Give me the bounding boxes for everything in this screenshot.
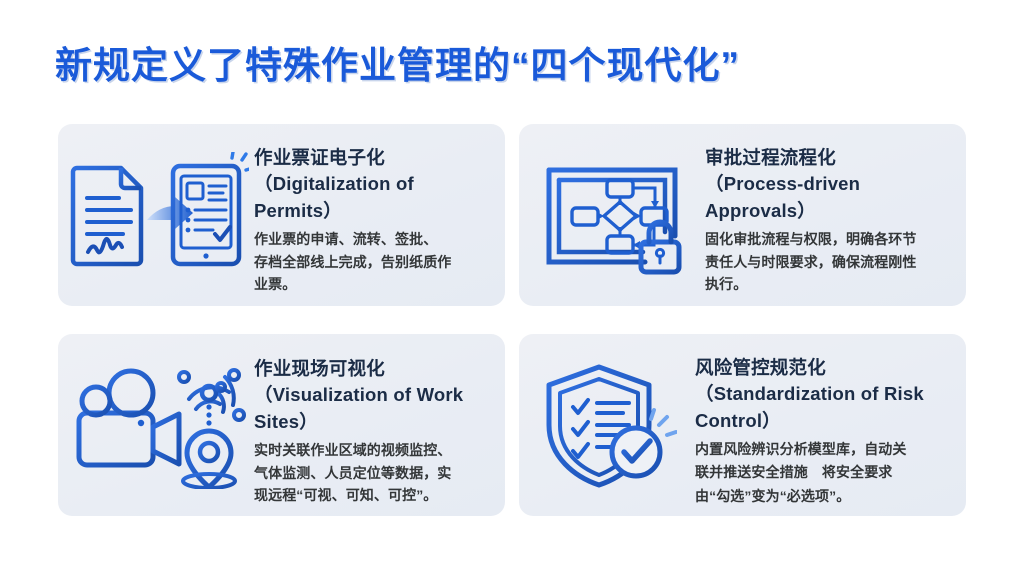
card-description: 固化审批流程与权限，明确各环节 责任人与时限要求，确保流程刚性 执行。 (705, 228, 950, 296)
flowchart-lock-icon (519, 124, 705, 306)
camera-signal-location-icon (58, 334, 254, 516)
card-text: 作业现场可视化 （Visualization of Work Sites） 实时… (254, 334, 505, 507)
card-heading: 作业现场可视化 （Visualization of Work Sites） (254, 356, 489, 435)
card-heading-en: （Process-driven Approvals） (705, 171, 950, 224)
card-heading-cn: 审批过程流程化 (705, 147, 836, 168)
card-text: 作业票证电子化 （Digitalization of Permits） 作业票的… (254, 124, 505, 296)
card-description: 实时关联作业区域的视频监控、 气体监测、人员定位等数据，实 现远程“可视、可知、… (254, 439, 489, 507)
card-heading-en: （Standardization of Risk Control） (695, 381, 950, 434)
card-text: 风险管控规范化 （Standardization of Risk Control… (695, 334, 966, 508)
feature-card-visualization[interactable]: 作业现场可视化 （Visualization of Work Sites） 实时… (58, 334, 505, 516)
feature-card-standardization[interactable]: 风险管控规范化 （Standardization of Risk Control… (519, 334, 966, 516)
card-heading-en: （Visualization of Work Sites） (254, 382, 489, 435)
shield-checklist-icon (519, 334, 695, 516)
card-description: 作业票的申请、流转、签批、 存档全部线上完成，告别纸质作 业票。 (254, 228, 489, 296)
feature-card-process-driven[interactable]: 审批过程流程化 （Process-driven Approvals） 固化审批流… (519, 124, 966, 306)
page-title: 新规定义了特殊作业管理的“四个现代化” (55, 44, 740, 88)
feature-card-grid: 作业票证电子化 （Digitalization of Permits） 作业票的… (58, 124, 966, 516)
feature-card-digitalization[interactable]: 作业票证电子化 （Digitalization of Permits） 作业票的… (58, 124, 505, 306)
card-description: 内置风险辨识分析模型库，自动关 联并推送安全措施 将安全要求 由“勾选”变为“必… (695, 438, 950, 509)
card-heading: 作业票证电子化 （Digitalization of Permits） (254, 145, 489, 224)
document-to-tablet-icon (58, 124, 254, 306)
card-heading-cn: 作业现场可视化 (254, 358, 385, 379)
card-heading-en: （Digitalization of Permits） (254, 171, 489, 224)
card-heading-cn: 风险管控规范化 (695, 357, 826, 378)
card-heading: 审批过程流程化 （Process-driven Approvals） (705, 145, 950, 224)
card-heading: 风险管控规范化 （Standardization of Risk Control… (695, 355, 950, 434)
card-text: 审批过程流程化 （Process-driven Approvals） 固化审批流… (705, 124, 966, 296)
card-heading-cn: 作业票证电子化 (254, 147, 385, 168)
